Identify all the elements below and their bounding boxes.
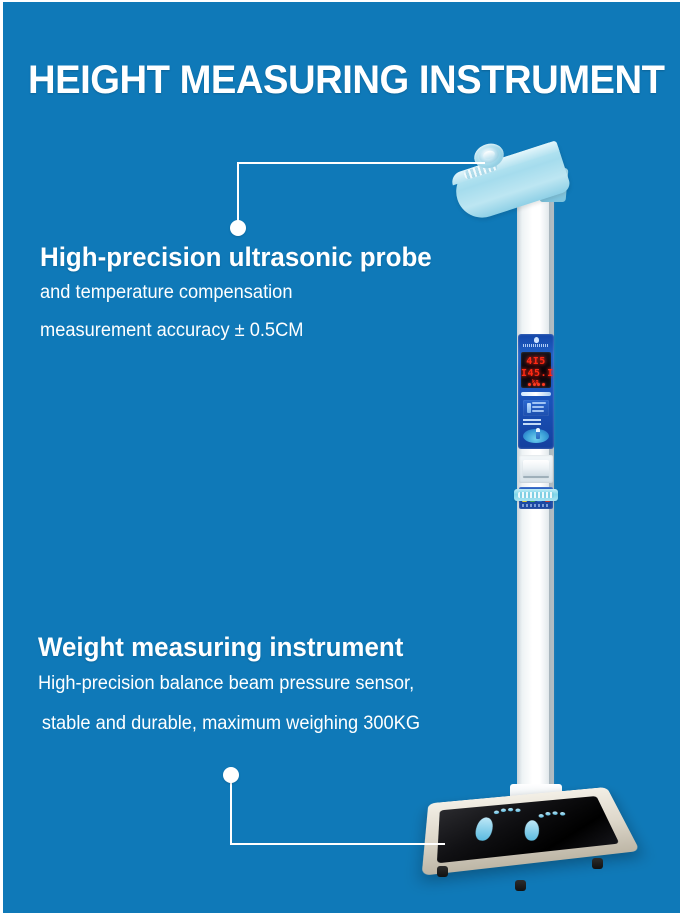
callout-probe-line-vertical: [237, 162, 239, 222]
brand-wordmark: [523, 344, 549, 347]
brand-mark-icon: [534, 337, 539, 343]
info-card-line: [532, 402, 546, 404]
footprint-toe: [508, 808, 514, 812]
printer-paper-roll: [523, 460, 549, 477]
platform-foot: [515, 880, 526, 891]
footprint-toe: [501, 808, 507, 812]
info-card-line: [532, 406, 544, 408]
panel-brand-logo: [523, 337, 549, 348]
footprint-toe: [494, 810, 500, 814]
led-lamp: [533, 383, 536, 386]
callout-probe-line-horizontal: [237, 162, 485, 164]
footprint-toe: [538, 814, 544, 818]
keypad-footer-strip: [522, 504, 550, 507]
callout-platform-line-vertical: [230, 775, 232, 845]
panel-info-graphics: [521, 400, 551, 446]
platform-foot: [592, 858, 603, 869]
feature-weight-heading: Weight measuring instrument: [38, 630, 420, 664]
feature-probe-line-2: measurement accuracy ± 0.5CM: [40, 312, 432, 350]
printer-paper-slot: [523, 476, 549, 478]
led-lamp: [528, 383, 531, 386]
feature-block-probe: High-precision ultrasonic probe and temp…: [40, 240, 448, 350]
feature-weight-line-2: stable and durable, maximum weighing 300…: [38, 704, 420, 744]
info-card-line: [532, 410, 544, 412]
info-card-icon: [527, 403, 531, 413]
led-height-reading: 4I5: [521, 356, 551, 367]
feature-weight-line-1: High-precision balance beam pressure sen…: [38, 664, 420, 704]
info-caption-lines: [523, 419, 541, 427]
info-card: [523, 400, 549, 416]
footprint-toe: [560, 812, 566, 816]
panel-light-bar: [521, 392, 551, 396]
footprint-toe: [515, 808, 521, 812]
callout-probe-dot: [230, 220, 246, 236]
footprint-left-sole: [473, 817, 494, 841]
feature-probe-line-1: and temperature compensation: [40, 274, 432, 312]
footprint-right-sole: [524, 820, 539, 841]
info-person-graphic: [536, 428, 540, 439]
footprint-toe: [552, 811, 558, 815]
led-lamp: [542, 383, 545, 386]
height-measuring-device-illustration: 4I5 I45.I kg: [0, 0, 680, 913]
footprint-toe: [545, 812, 551, 816]
callout-platform-line-horizontal: [230, 843, 445, 845]
callout-platform-dot: [223, 767, 239, 783]
platform-foot: [437, 866, 448, 877]
feature-probe-heading: High-precision ultrasonic probe: [40, 240, 432, 274]
led-weight-reading: I45.I: [521, 368, 551, 379]
infographic-page: HEIGHT MEASURING INSTRUMENT 4I5 I45.I kg: [0, 0, 680, 913]
feature-block-weight: Weight measuring instrument High-precisi…: [38, 630, 436, 744]
led-indicator-lamps: [528, 383, 545, 386]
led-lamp: [537, 383, 540, 386]
accent-band-ribs: [518, 492, 554, 498]
led-display: 4I5 I45.I kg: [521, 352, 551, 388]
